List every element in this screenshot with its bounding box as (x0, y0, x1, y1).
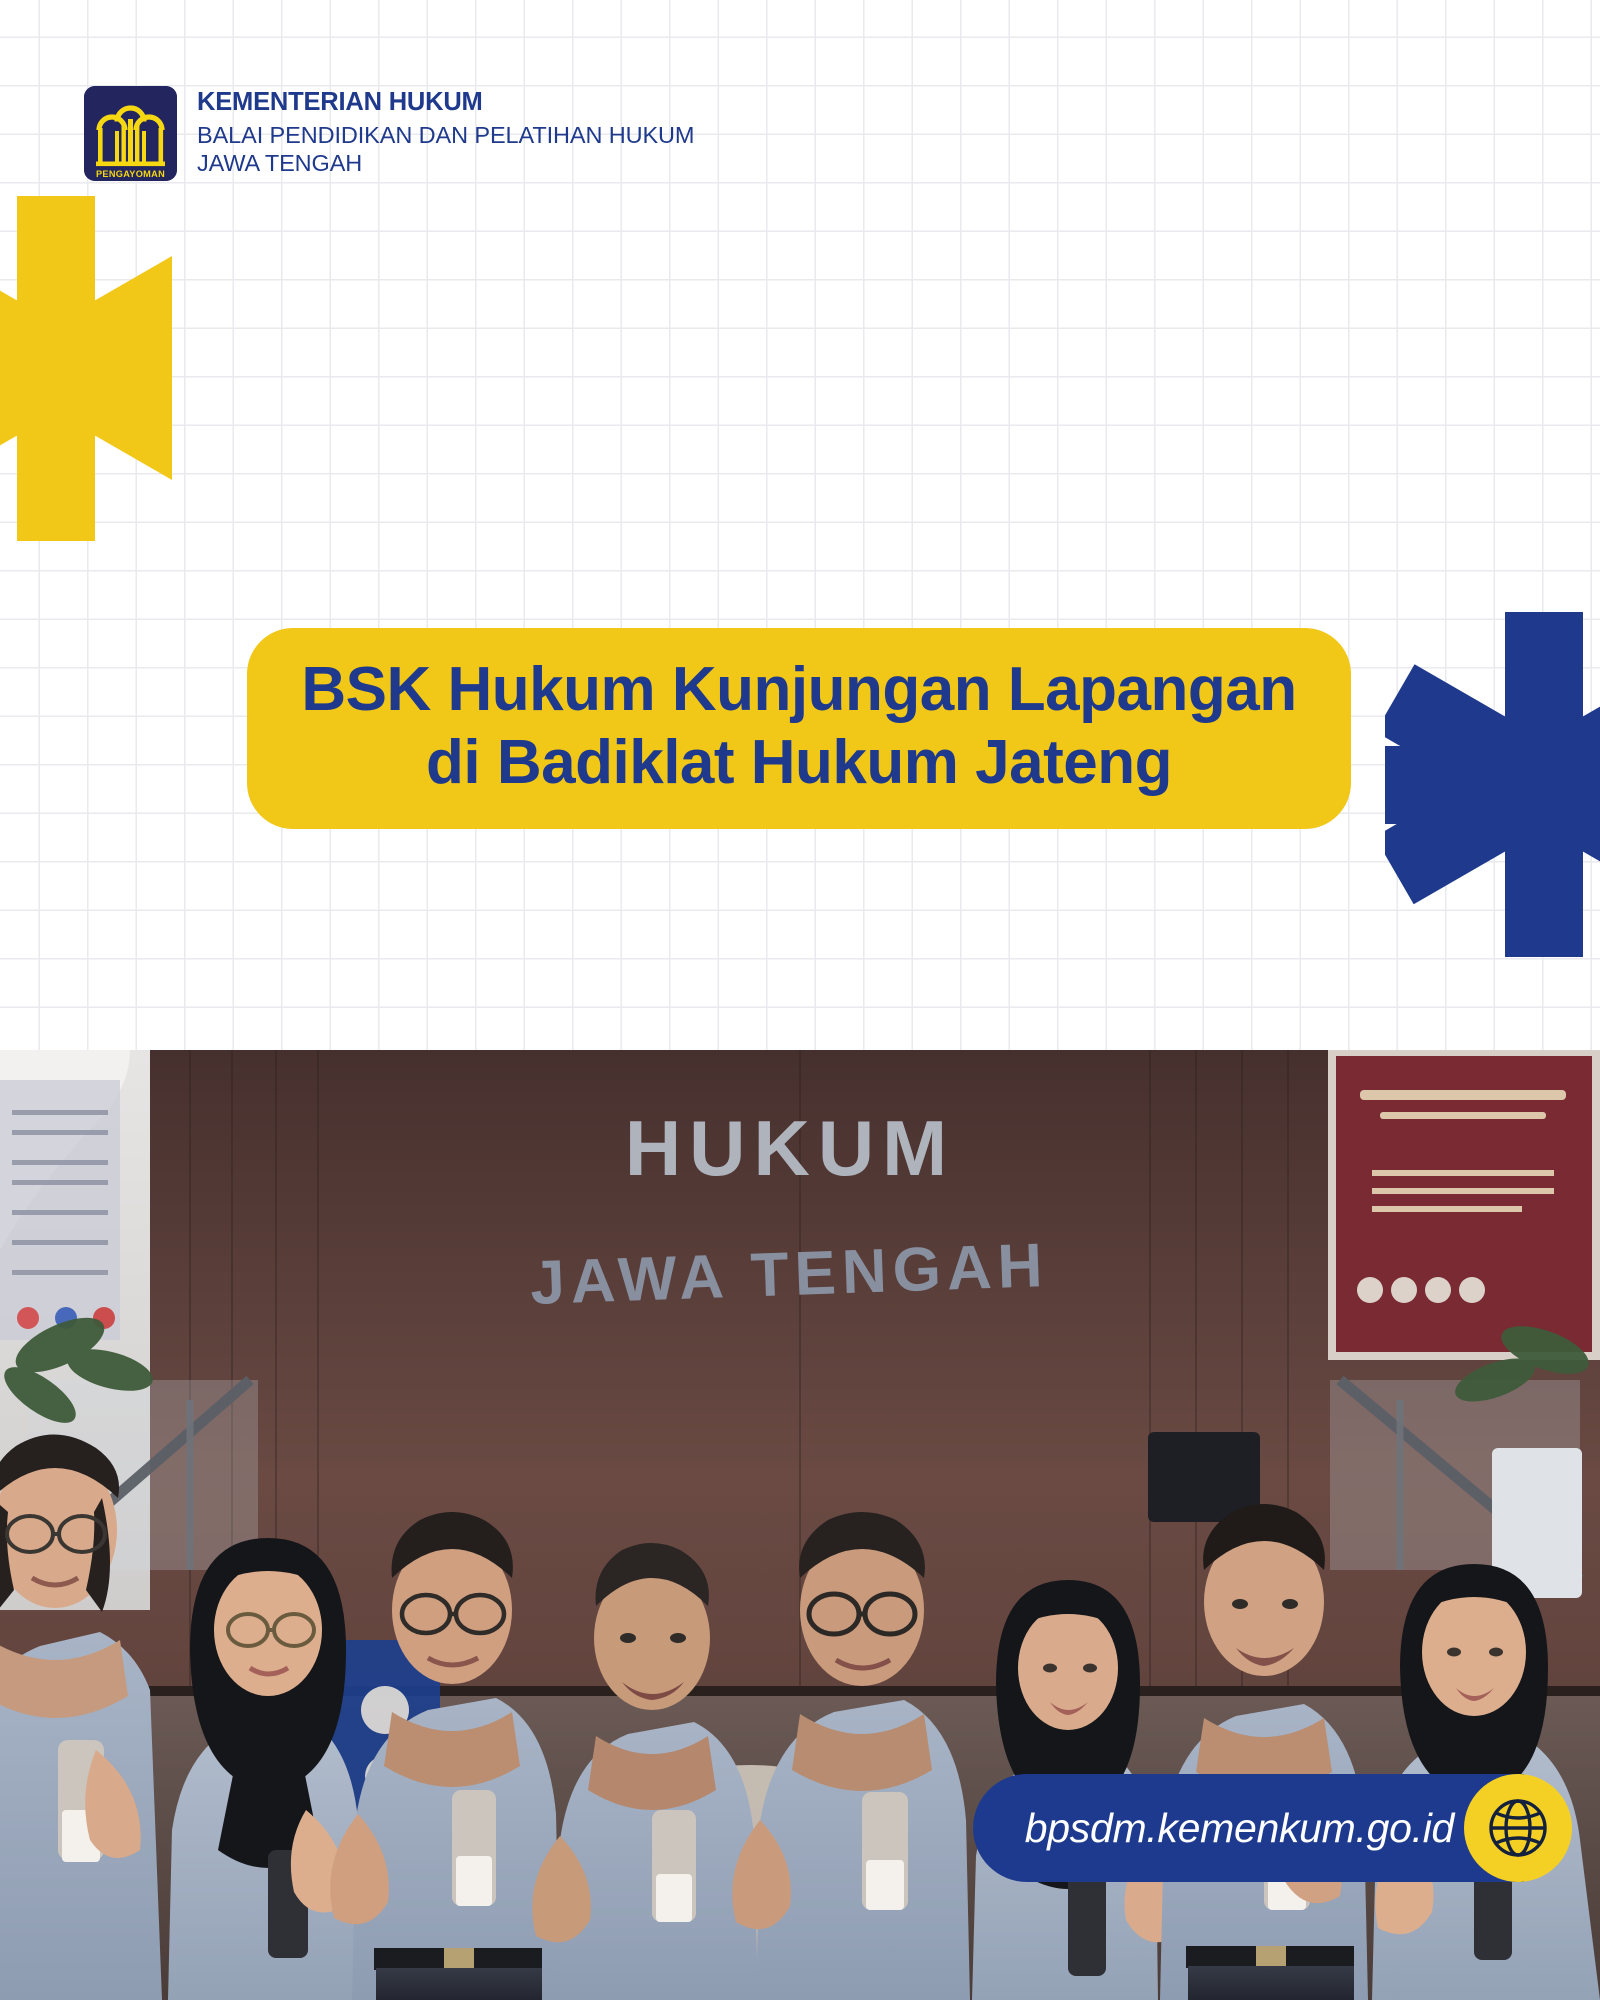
asterisk-shape-navy-icon (1385, 612, 1600, 957)
pengayoman-banyan-tree-logo-icon: PENGAYOMAN (84, 86, 177, 181)
globe-icon (1464, 1774, 1572, 1882)
poster-canvas: PENGAYOMAN KEMENTERIAN HUKUM BALAI PENDI… (0, 0, 1600, 2000)
title-banner: BSK Hukum Kunjungan Lapangan di Badiklat… (247, 628, 1351, 829)
website-badge[interactable]: bpsdm.kemenkum.go.id (973, 1774, 1600, 1882)
title-line-1: BSK Hukum Kunjungan Lapangan (287, 654, 1311, 727)
title-line-2: di Badiklat Hukum Jateng (287, 727, 1311, 800)
brand-header: PENGAYOMAN KEMENTERIAN HUKUM BALAI PENDI… (84, 86, 694, 181)
svg-text:PENGAYOMAN: PENGAYOMAN (96, 169, 165, 179)
website-url-pill[interactable]: bpsdm.kemenkum.go.id (973, 1774, 1524, 1882)
brand-text-block: KEMENTERIAN HUKUM BALAI PENDIDIKAN DAN P… (197, 86, 694, 177)
asterisk-shape-yellow-icon (0, 196, 172, 541)
svg-text:HUKUM: HUKUM (625, 1104, 955, 1192)
region-name: JAWA TENGAH (197, 149, 694, 177)
ministry-name: KEMENTERIAN HUKUM (197, 88, 694, 117)
website-url-text: bpsdm.kemenkum.go.id (1025, 1805, 1454, 1852)
institution-name: BALAI PENDIDIKAN DAN PELATIHAN HUKUM (197, 121, 694, 149)
